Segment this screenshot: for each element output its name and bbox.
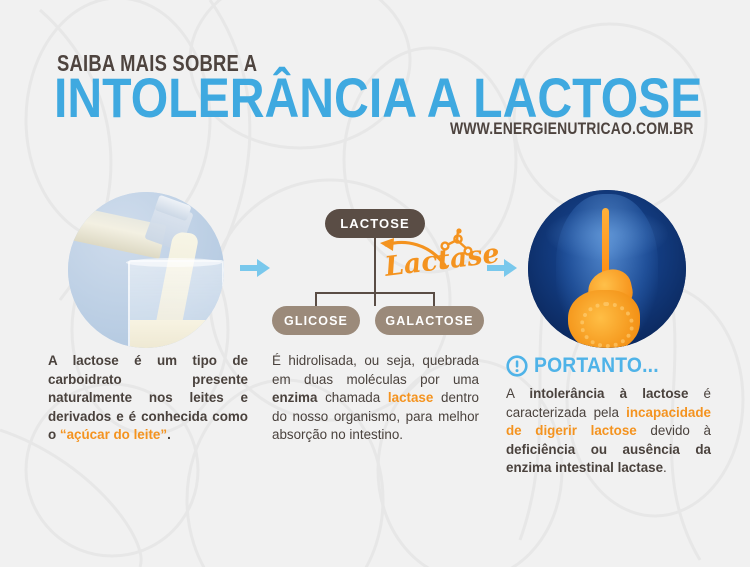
page-title: INTOLERÂNCIA A LACTOSE — [54, 70, 702, 126]
text-column-center: É hidrolisada, ou seja, quebrada em duas… — [272, 352, 479, 445]
connector-horizontal — [315, 292, 435, 294]
arrow-right-icon-1 — [240, 258, 270, 278]
right-text-bold1: intolerância à lactose — [529, 386, 688, 401]
left-text-part1: A lactose é um tipo de carboidrato prese… — [48, 353, 248, 387]
glass-rim-shape — [126, 258, 222, 267]
portanto-heading-row: PORTANTO... — [506, 354, 670, 378]
left-text-highlight: “açúcar do leite” — [60, 427, 167, 442]
exclamation-circle-icon — [506, 355, 528, 377]
node-galactose: GALACTOSE — [375, 306, 484, 335]
connector-vertical-main — [374, 238, 376, 306]
left-text-part3: . — [167, 427, 171, 442]
connector-vertical-right — [433, 292, 435, 307]
center-text-part1: É hidrolisada, ou seja, quebrada em duas… — [272, 353, 479, 387]
text-column-left: A lactose é um tipo de carboidrato prese… — [48, 352, 248, 445]
website-url: WWW.ENERGIENUTRICAO.COM.BR — [450, 119, 694, 139]
molecule-icon — [440, 228, 474, 258]
center-text-part2: chamada — [317, 390, 388, 405]
header: SAIBA MAIS SOBRE A INTOLERÂNCIA A LACTOS… — [0, 0, 750, 160]
node-lactose: LACTOSE — [325, 209, 425, 238]
portanto-heading: PORTANTO... — [534, 354, 659, 378]
right-text-part4: . — [663, 460, 667, 475]
infographic-canvas: SAIBA MAIS SOBRE A INTOLERÂNCIA A LACTOS… — [0, 0, 750, 567]
center-text-bold1: enzima — [272, 390, 317, 405]
left-text-bold1: naturalmente — [48, 390, 132, 405]
intestine-shape — [568, 290, 640, 348]
digestive-system-illustration — [528, 190, 686, 348]
text-column-right: A intolerância à lactose é caracterizada… — [506, 385, 711, 478]
right-text-bold2: deficiência ou ausência da enzima intest… — [506, 442, 711, 476]
node-glicose: GLICOSE — [272, 306, 360, 335]
arrow-right-icon-2 — [487, 258, 517, 278]
right-text-part1: A — [506, 386, 529, 401]
right-text-part3: devido à — [637, 423, 711, 438]
glass-milk-fill — [130, 320, 218, 348]
connector-vertical-left — [315, 292, 317, 307]
milk-pouring-photo — [68, 192, 224, 348]
center-text-highlight: lactase — [388, 390, 433, 405]
